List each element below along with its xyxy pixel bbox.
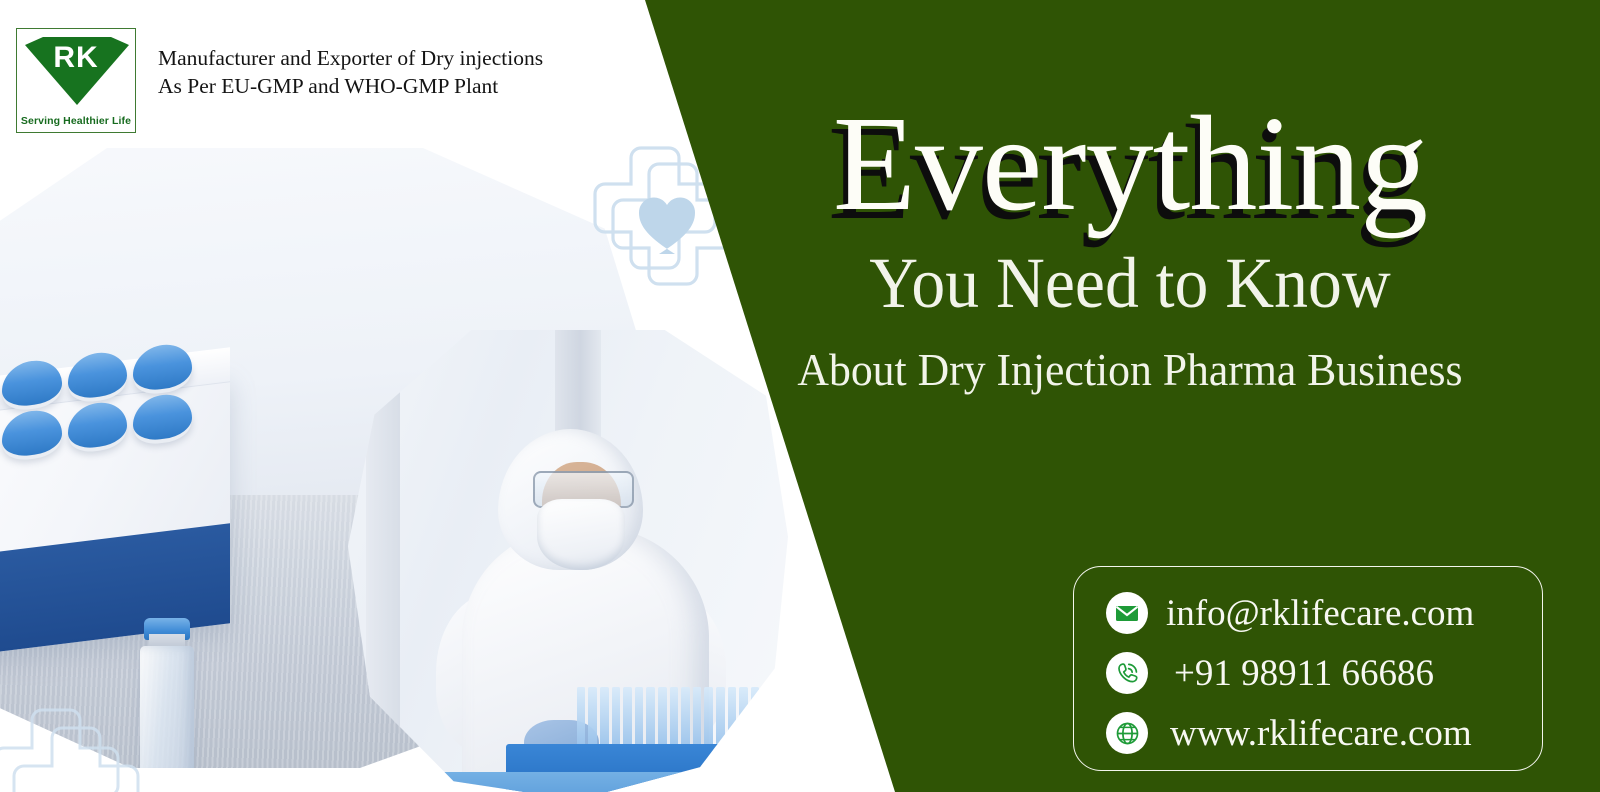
vial-glass-body (140, 646, 194, 768)
email-text: info@rklifecare.com (1166, 592, 1474, 635)
phone-text: +91 98911 66686 (1166, 652, 1434, 695)
standalone-vial (140, 618, 194, 768)
company-logo: RK Serving Healthier Life (16, 28, 136, 133)
contact-details-box: info@rklifecare.com +91 98911 66686 (1073, 566, 1543, 771)
contact-row-website[interactable]: www.rklifecare.com (1106, 703, 1542, 763)
tagline-line-2: As Per EU-GMP and WHO-GMP Plant (158, 72, 543, 100)
vial-cap (68, 399, 127, 450)
contact-row-phone[interactable]: +91 98911 66686 (1106, 643, 1542, 703)
vial-cap (68, 349, 127, 400)
tagline-line-1: Manufacturer and Exporter of Dry injecti… (158, 44, 543, 72)
headline-block: Everything You Need to Know About Dry In… (700, 96, 1560, 394)
headline-secondary: You Need to Know (726, 246, 1534, 322)
vial-cap (133, 341, 192, 392)
globe-icon (1106, 712, 1148, 754)
respirator-mask (537, 499, 625, 570)
website-text: www.rklifecare.com (1166, 712, 1472, 755)
vial-cap (2, 407, 61, 458)
contact-row-email[interactable]: info@rklifecare.com (1106, 583, 1542, 643)
vial-cap (133, 391, 192, 442)
logo-tagline: Serving Healthier Life (17, 115, 135, 127)
brand-header: RK Serving Healthier Life Manufacturer a… (16, 28, 543, 133)
test-tube-rack-secondary (427, 772, 700, 792)
photo-scientist-in-ppe (348, 330, 788, 792)
headline-primary: Everything (700, 96, 1560, 232)
logo-monogram: RK (17, 43, 135, 73)
phone-call-icon (1106, 652, 1148, 694)
company-tagline: Manufacturer and Exporter of Dry injecti… (158, 28, 543, 101)
envelope-icon (1106, 592, 1148, 634)
headline-tertiary: About Dry Injection Pharma Business (722, 346, 1539, 394)
vial-cap (2, 357, 61, 408)
promotional-banner: RK Serving Healthier Life Manufacturer a… (0, 0, 1600, 792)
